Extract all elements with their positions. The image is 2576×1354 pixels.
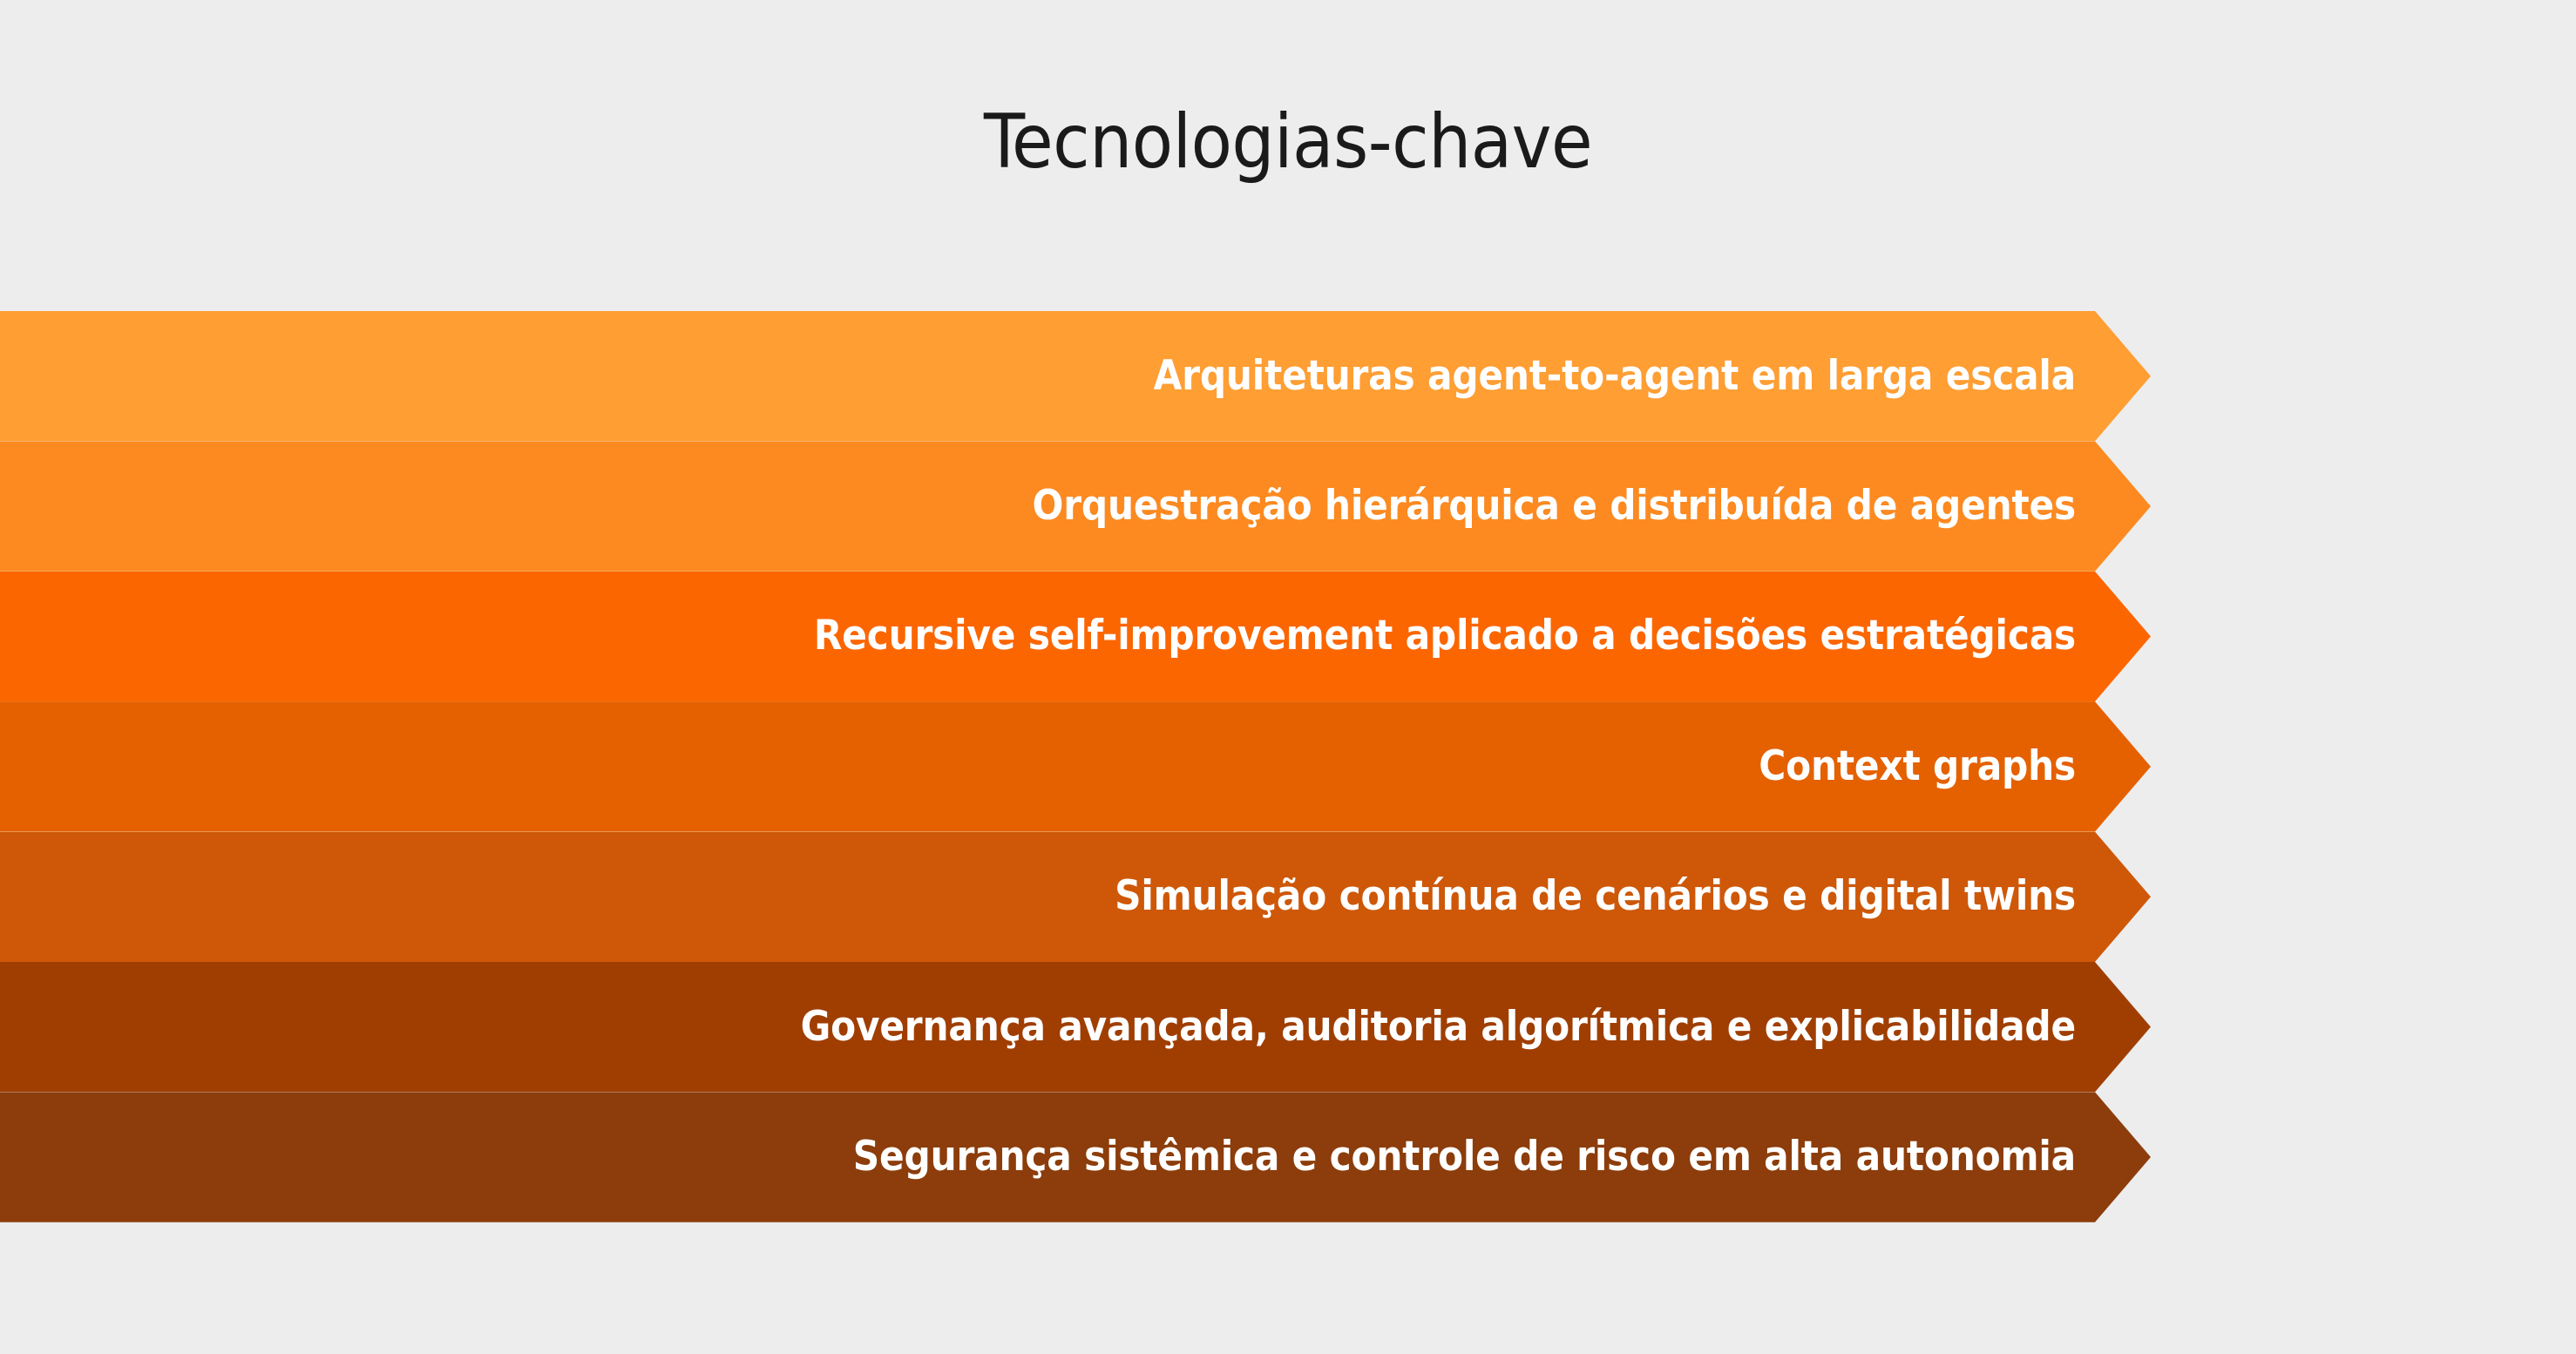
arrow-label-7: Segurança sistêmica e controle de risco …	[0, 1092, 2095, 1222]
arrow-item-3[interactable]: Recursive self-improvement aplicado a de…	[0, 572, 2152, 701]
arrow-item-5[interactable]: Simulação contínua de cenários e digital…	[0, 832, 2152, 962]
slide-canvas: Tecnologias-chave Arquiteturas agent-to-…	[0, 0, 2576, 1354]
arrow-item-7[interactable]: Segurança sistêmica e controle de risco …	[0, 1092, 2152, 1222]
arrow-label-5: Simulação contínua de cenários e digital…	[0, 832, 2095, 962]
arrow-label-6: Governança avançada, auditoria algorítmi…	[0, 962, 2095, 1092]
arrow-item-6[interactable]: Governança avançada, auditoria algorítmi…	[0, 962, 2152, 1092]
arrow-label-4: Context graphs	[0, 701, 2095, 831]
arrow-list: Arquiteturas agent-to-agent em larga esc…	[0, 311, 2152, 1222]
arrow-label-3: Recursive self-improvement aplicado a de…	[0, 572, 2095, 701]
page-title: Tecnologias-chave	[0, 94, 2576, 190]
arrow-label-2: Orquestração hierárquica e distribuída d…	[0, 441, 2095, 571]
arrow-label-1: Arquiteturas agent-to-agent em larga esc…	[0, 311, 2095, 441]
arrow-item-1[interactable]: Arquiteturas agent-to-agent em larga esc…	[0, 311, 2152, 441]
arrow-item-4[interactable]: Context graphs	[0, 701, 2152, 831]
arrow-item-2[interactable]: Orquestração hierárquica e distribuída d…	[0, 441, 2152, 571]
